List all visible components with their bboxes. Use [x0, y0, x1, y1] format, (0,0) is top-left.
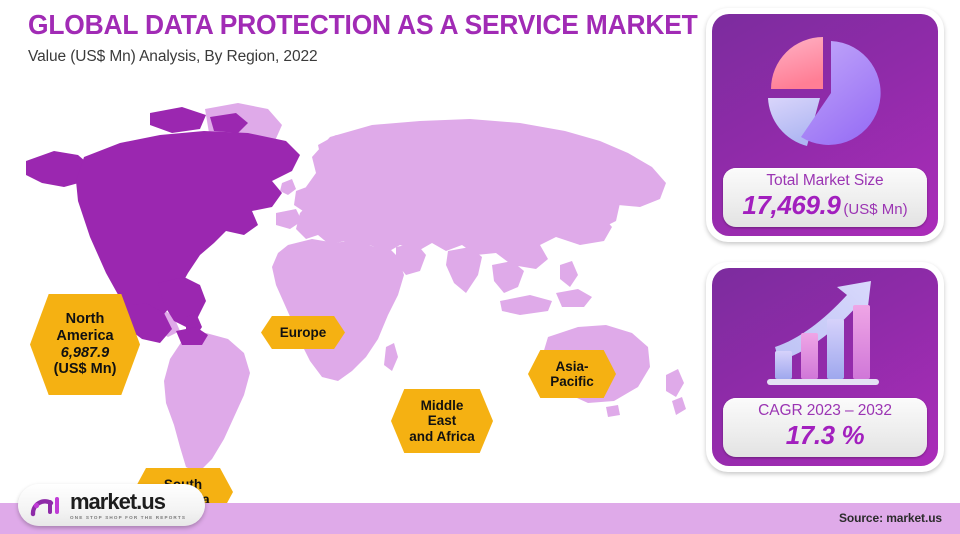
- map-label-middle-east-and-africa[interactable]: Middle East and Africa: [391, 389, 493, 453]
- page-subtitle: Value (US$ Mn) Analysis, By Region, 2022: [28, 48, 708, 66]
- region-name: Europe: [276, 325, 331, 340]
- region-name-line-1: North: [66, 311, 105, 327]
- header: GLOBAL DATA PROTECTION AS A SERVICE MARK…: [28, 10, 708, 66]
- kpi-caption: Total Market Size: [725, 172, 925, 191]
- kpi-value: 17,469.9: [742, 190, 840, 220]
- region-unit: (US$ Mn): [54, 361, 117, 377]
- kpi-value-row: 17,469.9(US$ Mn): [725, 191, 925, 221]
- region-name-line-2: America: [56, 328, 113, 344]
- page-title: GLOBAL DATA PROTECTION AS A SERVICE MARK…: [28, 10, 681, 41]
- kpi-card-body: Total Market Size 17,469.9(US$ Mn): [712, 14, 938, 236]
- kpi-readout-cagr: CAGR 2023 – 2032 17.3 %: [723, 398, 927, 457]
- kpi-value-row: 17.3 %: [725, 421, 925, 451]
- logo-wordmark: market.us: [70, 491, 186, 513]
- kpi-value: 17.3 %: [786, 420, 865, 450]
- region-value: 6,987.9: [54, 345, 117, 362]
- bar-chart-growth-icon: [755, 275, 895, 391]
- region-name-line-2: Pacific: [550, 374, 594, 389]
- region-name-line-3: and Africa: [409, 429, 475, 444]
- brand-logo[interactable]: market.us ONE STOP SHOP FOR THE REPORTS: [18, 484, 205, 526]
- source-note: Source: market.us: [839, 511, 942, 525]
- region-name-line-1: Asia-: [555, 359, 588, 374]
- map-label-asia-pacific[interactable]: Asia- Pacific: [528, 350, 616, 398]
- kpi-icon-zone: [712, 14, 938, 168]
- market-us-logo-icon: [30, 492, 64, 518]
- region-name-line-2: East: [428, 413, 457, 428]
- logo-tagline: ONE STOP SHOP FOR THE REPORTS: [70, 515, 186, 520]
- region-name-line-1: Middle: [421, 398, 464, 413]
- logo-text-block: market.us ONE STOP SHOP FOR THE REPORTS: [70, 491, 186, 520]
- kpi-icon-zone: [712, 268, 938, 398]
- map-label-north-america[interactable]: North America 6,987.9 (US$ Mn): [30, 294, 140, 395]
- world-map-container: North America 6,987.9 (US$ Mn) Europe As…: [0, 95, 700, 485]
- infographic-canvas: GLOBAL DATA PROTECTION AS A SERVICE MARK…: [0, 0, 960, 534]
- map-label-europe[interactable]: Europe: [261, 316, 345, 349]
- kpi-card-body: CAGR 2023 – 2032 17.3 %: [712, 268, 938, 466]
- kpi-unit: (US$ Mn): [843, 201, 907, 218]
- kpi-card-total-market-size: Total Market Size 17,469.9(US$ Mn): [706, 8, 944, 242]
- kpi-readout-total-market-size: Total Market Size 17,469.9(US$ Mn): [723, 168, 927, 227]
- kpi-caption: CAGR 2023 – 2032: [725, 402, 925, 421]
- world-map-svg: [0, 95, 700, 485]
- pie-chart-icon: [761, 27, 889, 155]
- kpi-card-cagr: CAGR 2023 – 2032 17.3 %: [706, 262, 944, 472]
